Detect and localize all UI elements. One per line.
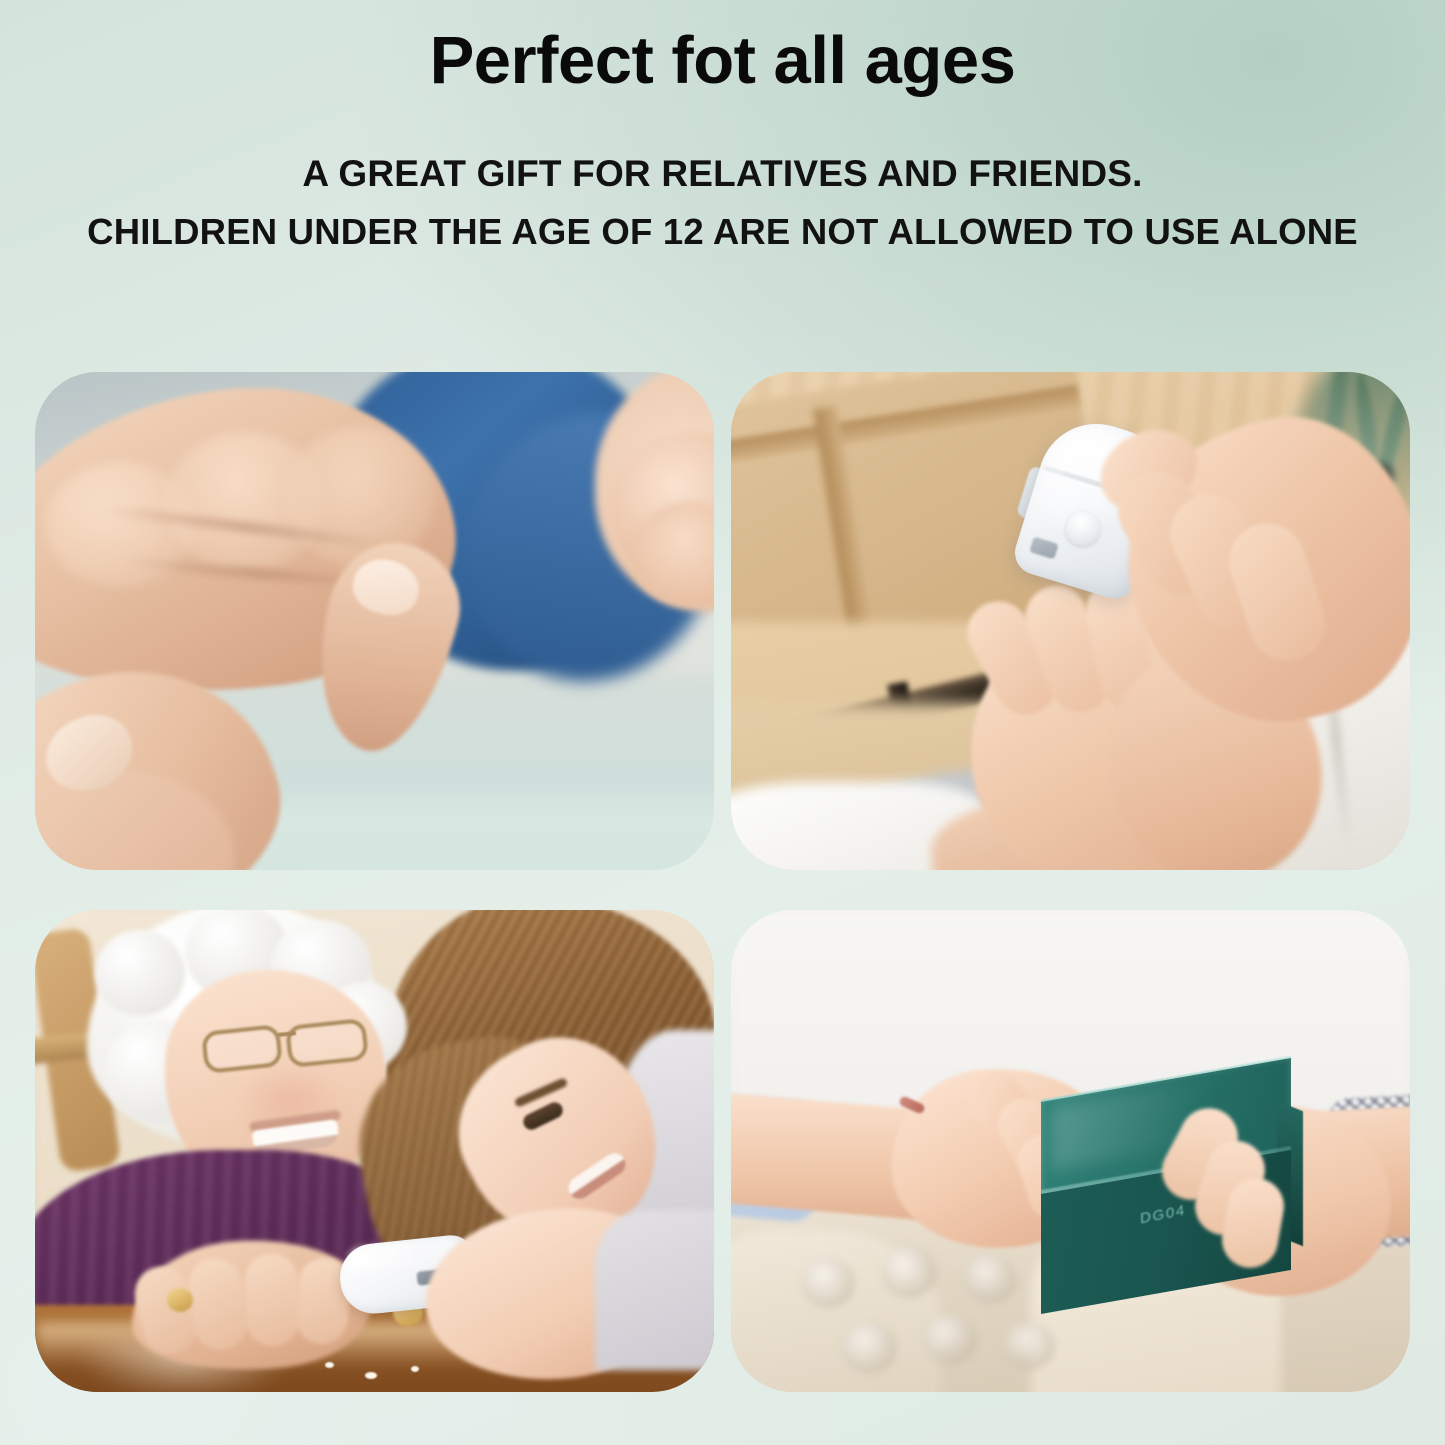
nail-clipping-2: [365, 1372, 377, 1379]
subtitle-line-2: CHILDREN UNDER THE AGE OF 12 ARE NOT ALL…: [0, 204, 1445, 261]
eyeglasses-right-lens: [285, 1018, 369, 1068]
photo-grid: DG04: [35, 372, 1410, 1392]
page-title: Perfect fot all ages: [0, 22, 1445, 99]
nail-clipping-1: [325, 1362, 334, 1368]
sofa-tuft-3: [963, 1254, 1017, 1304]
grandmother-gold-ring-1: [167, 1288, 193, 1312]
header-block: Perfect fot all ages A GREAT GIFT FOR RE…: [0, 0, 1445, 261]
grandmother-finger-3: [243, 1253, 300, 1347]
photo-panel-gift-box: DG04: [731, 910, 1410, 1392]
sofa-tuft-1: [801, 1258, 855, 1308]
product-feature-poster: Perfect fot all ages A GREAT GIFT FOR RE…: [0, 0, 1445, 1445]
sofa-tuft-5: [923, 1314, 977, 1364]
subtitle-line-1: A GREAT GIFT FOR RELATIVES AND FRIENDS.: [0, 145, 1445, 202]
photo-panel-elderly-care: [35, 910, 714, 1392]
sofa-tuft-4: [841, 1322, 897, 1374]
granddaughter-sleeve: [595, 1210, 714, 1370]
sofa-tuft-2: [881, 1246, 937, 1298]
photo-panel-baby-trim: [35, 372, 714, 870]
hair-curl-1: [95, 930, 185, 1016]
photo-panel-adult-selfuse: [731, 372, 1410, 870]
sofa-tuft-6: [1003, 1322, 1055, 1370]
eyeglasses-left-lens: [201, 1024, 283, 1074]
nail-clipping-3: [411, 1366, 419, 1372]
